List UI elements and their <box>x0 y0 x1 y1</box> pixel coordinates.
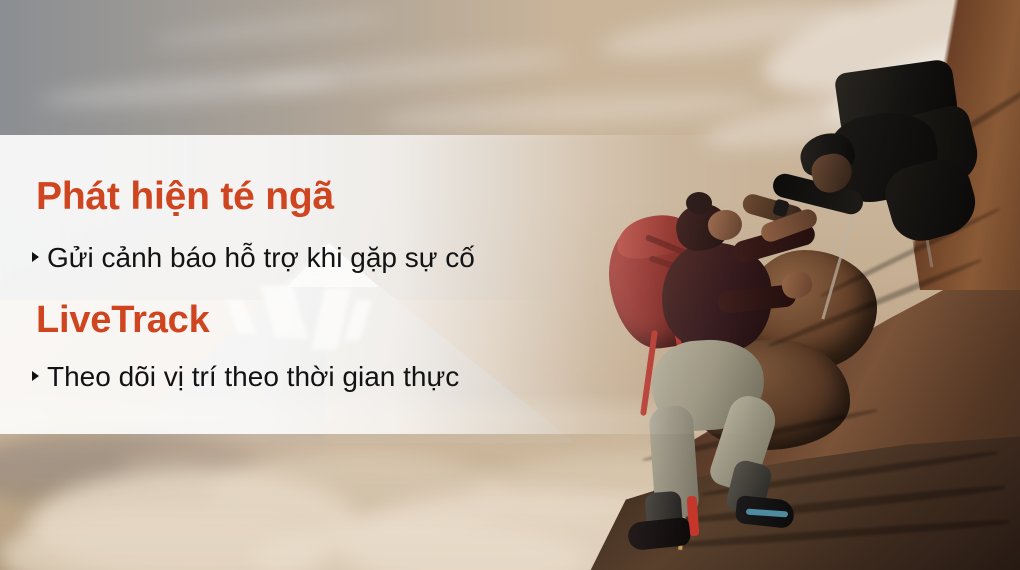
feature-bullet-fall-detection: Gửi cảnh báo hỗ trợ khi gặp sự cố <box>32 243 475 274</box>
feature-heading-livetrack: LiveTrack <box>36 301 210 339</box>
feature-bullet-text: Theo dõi vị trí theo thời gian thực <box>47 362 459 393</box>
feature-banner: Phát hiện té ngã Gửi cảnh báo hỗ trợ khi… <box>0 0 1020 570</box>
feature-heading-fall-detection: Phát hiện té ngã <box>36 177 334 216</box>
feature-bullet-livetrack: Theo dõi vị trí theo thời gian thực <box>32 362 459 393</box>
triangle-right-bullet-icon <box>32 371 39 381</box>
triangle-right-bullet-icon <box>32 252 39 262</box>
feature-bullet-text: Gửi cảnh báo hỗ trợ khi gặp sự cố <box>47 243 475 274</box>
